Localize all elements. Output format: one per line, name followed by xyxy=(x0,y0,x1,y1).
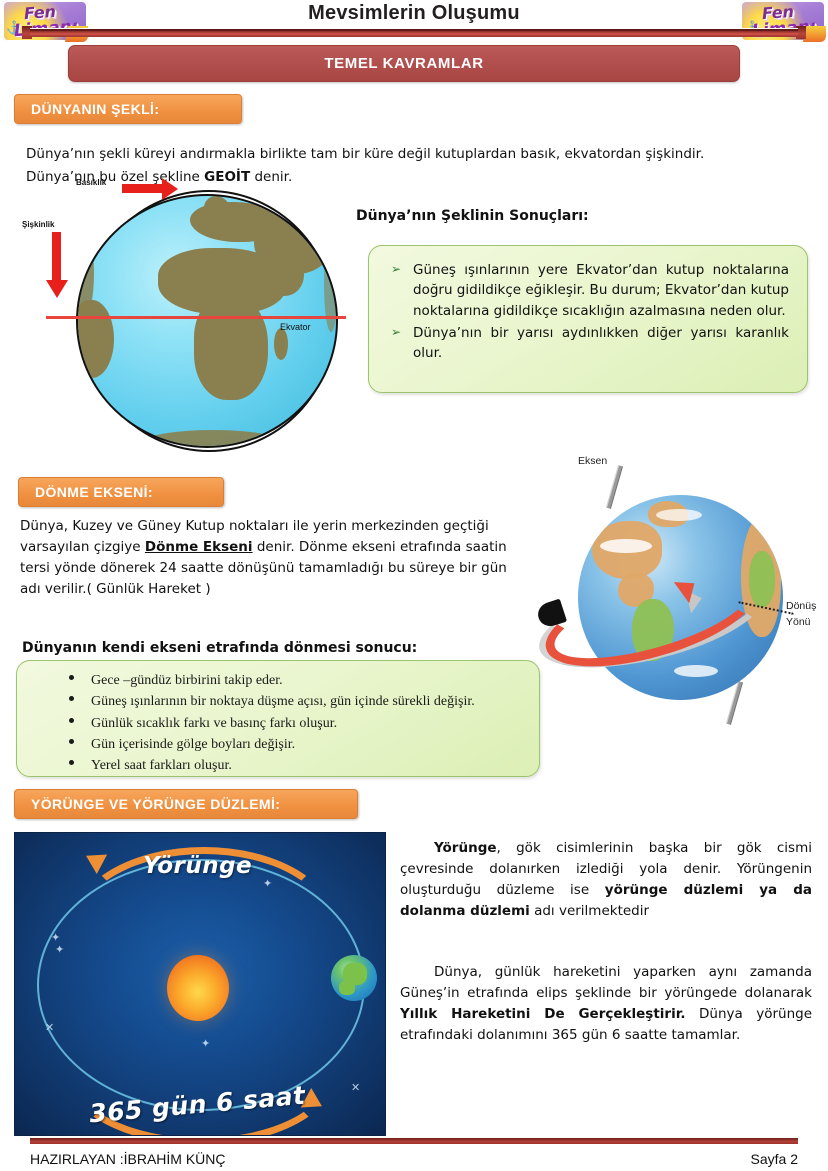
figure-rotating-earth: Eksen Dönüş Yönü xyxy=(520,455,828,730)
paragraph-yorunge: Yörünge, gök cisimlerinin başka bir gök … xyxy=(400,838,812,922)
list-sekil-sonuclari: ➢ Güneş ışınlarının yere Ekvator’dan kut… xyxy=(369,246,807,363)
list-eksen-sonucu: Gece –gündüz birbirini takip eder. Güneş… xyxy=(17,661,539,776)
subheading-eksen-sonucu: Dünyanın kendi ekseni etrafında dönmesi … xyxy=(22,640,417,656)
landmass-africa-south xyxy=(194,296,268,400)
footer-prepared-by: HAZIRLAYAN :İBRAHİM KÜNÇ xyxy=(30,1151,226,1167)
earth-landmass-2 xyxy=(339,981,355,995)
equator-line xyxy=(46,316,346,319)
siskinlik-arrow-shaft xyxy=(52,232,61,284)
cloud-band-2 xyxy=(674,665,718,677)
list-item: ➢ Dünya’nın bir yarısı aydınlıkken diğer… xyxy=(385,323,789,364)
label-donus-yonu-line2: Yönü xyxy=(786,616,811,628)
greenbox-sekil-sonuclari: ➢ Güneş ışınlarının yere Ekvator’dan kut… xyxy=(368,245,808,393)
list-item-text: Günlük sıcaklık farkı ve basınç farkı ol… xyxy=(91,716,337,731)
label-siskinlik: Şişkinlik xyxy=(22,220,54,229)
list-item: Günlük sıcaklık farkı ve basınç farkı ol… xyxy=(69,713,525,734)
dot-bullet-icon xyxy=(69,696,74,701)
orbit-caption-top: Yörünge xyxy=(143,853,252,879)
globe-left-limb xyxy=(76,230,94,316)
landmass-antarctica xyxy=(138,430,288,448)
footer-divider xyxy=(30,1138,798,1144)
basiklik-arrow-head xyxy=(162,178,178,200)
dot-bullet-icon xyxy=(69,739,74,744)
list-item: Gece –gündüz birbirini takip eder. xyxy=(69,670,525,691)
earth-icon xyxy=(331,955,377,1001)
cloud-band-3 xyxy=(656,509,702,521)
dot-bullet-icon xyxy=(69,675,74,680)
list-item: Güneş ışınlarının bir noktaya düşme açıs… xyxy=(69,691,525,712)
geoit-line-1: Dünya’nın şekli küreyi andırmakla birlik… xyxy=(26,146,704,162)
landmass-scandinavia xyxy=(204,196,230,222)
cloud-band xyxy=(600,539,652,553)
yorunge-text-end: adı verilmektedir xyxy=(530,903,649,919)
list-item-text: Yerel saat farkları oluşur. xyxy=(91,758,232,773)
list-item-text: Gece –gündüz birbirini takip eder. xyxy=(91,673,283,688)
star-icon: ✕ xyxy=(351,1081,360,1094)
label-eksen: Eksen xyxy=(578,455,607,467)
star-icon: ✦ xyxy=(55,943,64,956)
list-item: ➢ Güneş ışınlarının yere Ekvator’dan kut… xyxy=(385,260,789,321)
yillik-text-pre: Dünya, günlük hareketini yaparken aynı z… xyxy=(400,964,812,1001)
subheading-sekil-sonuclari: Dünya’nın Şeklinin Sonuçları: xyxy=(356,208,589,224)
star-icon: ✕ xyxy=(45,1021,54,1034)
figure-orbit-diagram: Yörünge 365 gün 6 saat ✦ ✦ ✕ ✦ ✕ ✦ xyxy=(14,832,386,1136)
list-item-text: Güneş ışınlarının yere Ekvator’dan kutup… xyxy=(413,262,789,319)
header-divider xyxy=(30,28,798,37)
list-item: Yerel saat farkları oluşur. xyxy=(69,755,525,776)
label-ekvator: Ekvator xyxy=(280,322,311,332)
label-basiklik: Basıklık xyxy=(76,178,106,187)
section-header-dunyanin-sekli: DÜNYANIN ŞEKLİ: xyxy=(14,94,242,124)
axis-line-top xyxy=(606,465,623,509)
sun-icon xyxy=(167,955,229,1021)
dot-bullet-icon xyxy=(69,760,74,765)
banner-temel-kavramlar: TEMEL KAVRAMLAR xyxy=(68,45,740,82)
yillik-hareket-term: Yıllık Hareketini De Gerçekleştirir. xyxy=(400,1006,686,1022)
arrow-bullet-icon: ➢ xyxy=(391,260,401,278)
page-title: Mevsimlerin Oluşumu xyxy=(0,2,828,25)
star-icon: ✦ xyxy=(263,877,272,890)
paragraph-yillik-hareket: Dünya, günlük hareketini yaparken aynı z… xyxy=(400,962,812,1046)
landmass-madagascar xyxy=(274,328,288,360)
arrow-bullet-icon: ➢ xyxy=(391,323,401,341)
globe-sphere xyxy=(76,194,338,448)
yorunge-term: Yörünge xyxy=(434,840,497,856)
footer-page-number: Sayfa 2 xyxy=(751,1151,798,1167)
list-item-text: Dünya’nın bir yarısı aydınlıkken diğer y… xyxy=(413,325,789,361)
label-donus-yonu-line1: Dönüş xyxy=(786,600,816,612)
greenbox-eksen-sonucu: Gece –gündüz birbirini takip eder. Güneş… xyxy=(16,660,540,777)
donme-ekseni-term: Dönme Ekseni xyxy=(145,539,253,555)
dot-bullet-icon xyxy=(69,718,74,723)
section-header-donme-ekseni: DÖNME EKSENİ: xyxy=(18,477,224,507)
landmass-arabia xyxy=(264,252,304,296)
list-item-text: Güneş ışınlarının bir noktaya düşme açıs… xyxy=(91,694,475,709)
paragraph-donme-ekseni: Dünya, Kuzey ve Güney Kutup noktaları il… xyxy=(20,516,530,600)
star-icon: ✦ xyxy=(201,1037,210,1050)
siskinlik-arrow-head xyxy=(46,280,68,298)
figure-geoid-globe: Ekvator Basıklık Şişkinlik xyxy=(18,176,348,460)
orbit-arrowhead-left xyxy=(81,846,107,874)
list-item: Gün içerisinde gölge boyları değişir. xyxy=(69,734,525,755)
list-item-text: Gün içerisinde gölge boyları değişir. xyxy=(91,737,295,752)
section-header-yorunge: YÖRÜNGE VE YÖRÜNGE DÜZLEMİ: xyxy=(14,789,358,819)
basiklik-arrow-shaft xyxy=(122,184,164,193)
